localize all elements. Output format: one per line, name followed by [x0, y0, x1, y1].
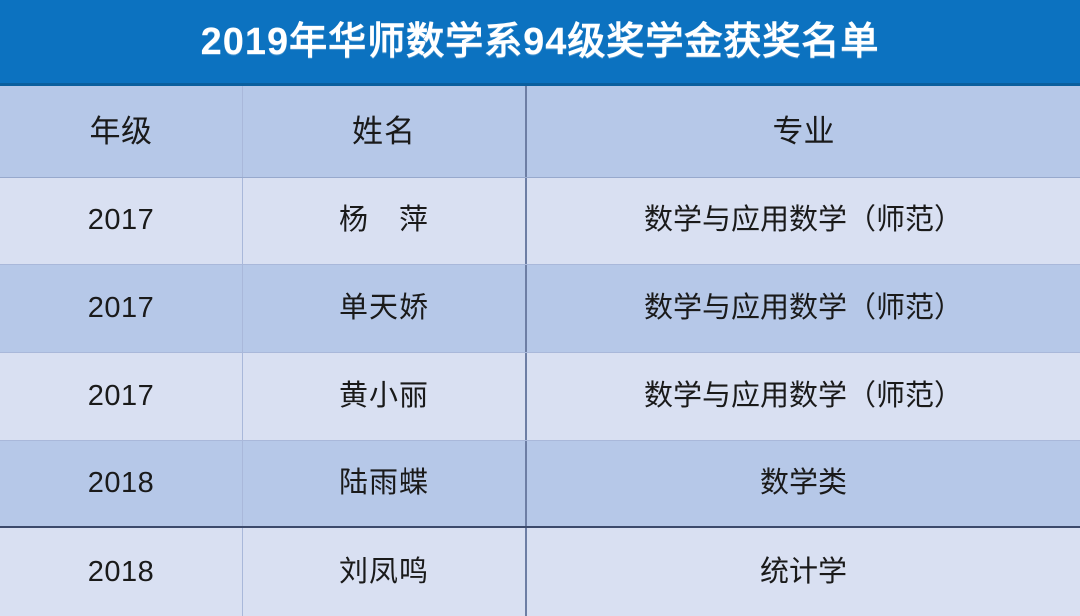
- cell-major-value: 数学与应用数学（师范）: [644, 294, 963, 323]
- cell-grade: 2018: [0, 528, 243, 616]
- column-header-name: 姓名: [243, 86, 527, 177]
- cell-grade-value: 2018: [88, 469, 155, 498]
- cell-major-value: 数学与应用数学（师范）: [644, 382, 963, 411]
- cell-grade-value: 2017: [88, 382, 155, 411]
- cell-major: 数学类: [527, 441, 1080, 527]
- page-title: 2019年华师数学系94级奖学金获奖名单: [201, 23, 880, 61]
- cell-name-value: 陆雨蝶: [339, 469, 429, 498]
- cell-grade: 2017: [0, 265, 243, 352]
- column-header-grade: 年级: [0, 86, 243, 177]
- cell-major-value: 统计学: [760, 558, 847, 587]
- column-header-grade-label: 年级: [90, 116, 153, 147]
- cell-grade: 2017: [0, 178, 243, 265]
- cell-major-value: 数学类: [760, 469, 847, 498]
- cell-major-value: 数学与应用数学（师范）: [644, 206, 963, 235]
- cell-grade: 2018: [0, 441, 243, 527]
- table-header-row: 年级 姓名 专业: [0, 86, 1080, 178]
- cell-name: 陆雨蝶: [243, 441, 527, 527]
- table-title-bar: 2019年华师数学系94级奖学金获奖名单: [0, 0, 1080, 86]
- cell-name-value: 单天娇: [339, 294, 429, 323]
- column-header-name-label: 姓名: [352, 116, 416, 147]
- cell-name-value: 刘凤鸣: [339, 558, 429, 587]
- table-row: 2017 单天娇 数学与应用数学（师范）: [0, 265, 1080, 353]
- cell-name: 黄小丽: [243, 353, 527, 440]
- cell-grade: 2017: [0, 353, 243, 440]
- table-row: 2017 杨 萍 数学与应用数学（师范）: [0, 178, 1080, 266]
- cell-name: 杨 萍: [243, 178, 527, 265]
- column-header-major: 专业: [527, 86, 1080, 177]
- table-row: 2018 陆雨蝶 数学类: [0, 441, 1080, 529]
- cell-name-value: 杨 萍: [339, 206, 429, 235]
- cell-major: 数学与应用数学（师范）: [527, 178, 1080, 265]
- cell-major: 统计学: [527, 528, 1080, 616]
- column-header-major-label: 专业: [773, 116, 835, 147]
- cell-name-value: 黄小丽: [339, 382, 429, 411]
- cell-major: 数学与应用数学（师范）: [527, 353, 1080, 440]
- cell-name: 单天娇: [243, 265, 527, 352]
- table-row: 2018 刘凤鸣 统计学: [0, 528, 1080, 616]
- table-row: 2017 黄小丽 数学与应用数学（师范）: [0, 353, 1080, 441]
- cell-major: 数学与应用数学（师范）: [527, 265, 1080, 352]
- cell-grade-value: 2017: [88, 294, 155, 323]
- cell-grade-value: 2018: [88, 558, 155, 587]
- table-grid: 年级 姓名 专业 2017 杨 萍 数学与应用数学（师范） 2017: [0, 86, 1080, 616]
- cell-grade-value: 2017: [88, 206, 155, 235]
- cell-name: 刘凤鸣: [243, 528, 527, 616]
- scholarship-list-table: 2019年华师数学系94级奖学金获奖名单 年级 姓名 专业 2017 杨 萍 数…: [0, 0, 1080, 616]
